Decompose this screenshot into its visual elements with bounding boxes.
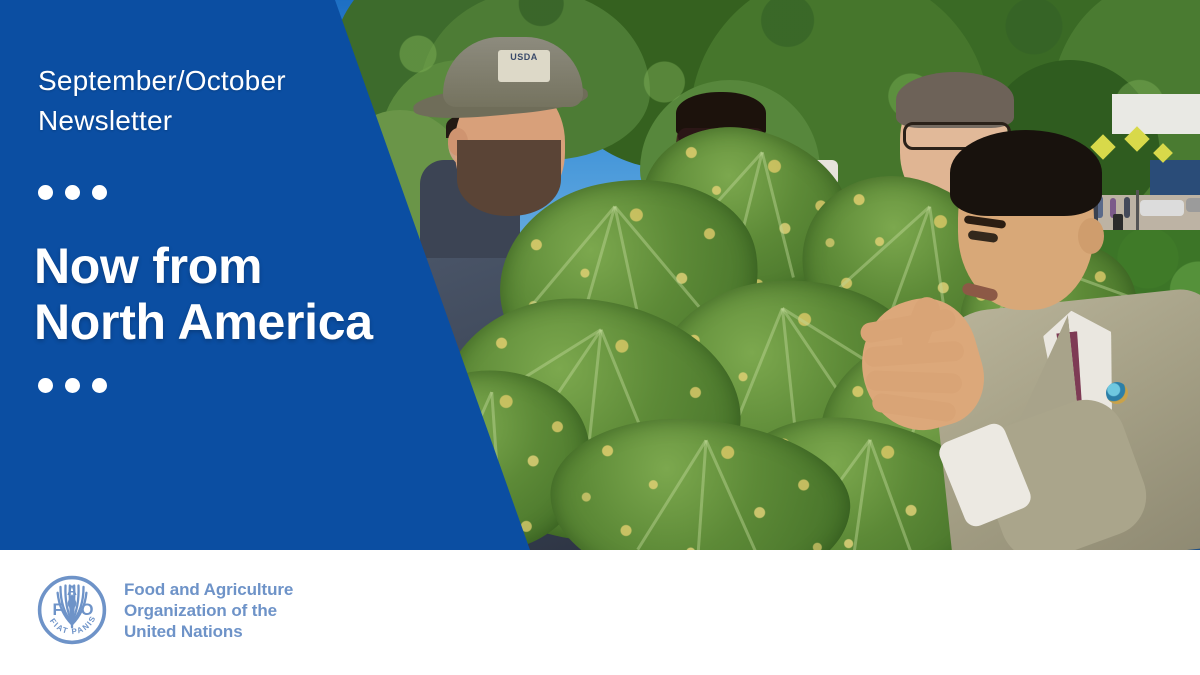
parked-car — [1140, 200, 1184, 216]
background-building — [1112, 94, 1200, 134]
svg-text:F: F — [53, 600, 63, 619]
person-hair — [950, 130, 1102, 216]
page-title: Now from North America — [34, 238, 454, 350]
dots-decoration-top — [38, 185, 107, 200]
parked-car — [1186, 198, 1200, 212]
dot — [65, 185, 80, 200]
headline-line-2: North America — [34, 294, 454, 350]
newsletter-kicker: September/October Newsletter — [38, 61, 338, 141]
lapel-pin — [1106, 382, 1128, 404]
org-line-1: Food and Agriculture — [124, 579, 293, 600]
headline-line-1: Now from — [34, 238, 454, 294]
fao-logo-text: Food and Agriculture Organization of the… — [124, 579, 293, 642]
org-line-2: Organization of the — [124, 600, 293, 621]
dot — [65, 378, 80, 393]
dot — [92, 185, 107, 200]
hand-finger — [866, 370, 963, 393]
org-line-3: United Nations — [124, 621, 293, 642]
svg-text:A: A — [67, 583, 77, 598]
cap-patch: USDA — [498, 50, 550, 82]
dot — [92, 378, 107, 393]
dot — [38, 378, 53, 393]
fao-logo: F A O FIAT PANIS Food and Agriculture Or… — [36, 574, 293, 646]
background-pedestrian — [1124, 197, 1130, 218]
newsletter-banner: USDA — [0, 0, 1200, 675]
dot — [38, 185, 53, 200]
fao-emblem-icon: F A O FIAT PANIS — [36, 574, 108, 646]
dots-decoration-bottom — [38, 378, 107, 393]
cap-patch-label: USDA — [498, 52, 550, 62]
person-ear — [1078, 218, 1104, 254]
footer: F A O FIAT PANIS Food and Agriculture Or… — [0, 550, 1200, 675]
